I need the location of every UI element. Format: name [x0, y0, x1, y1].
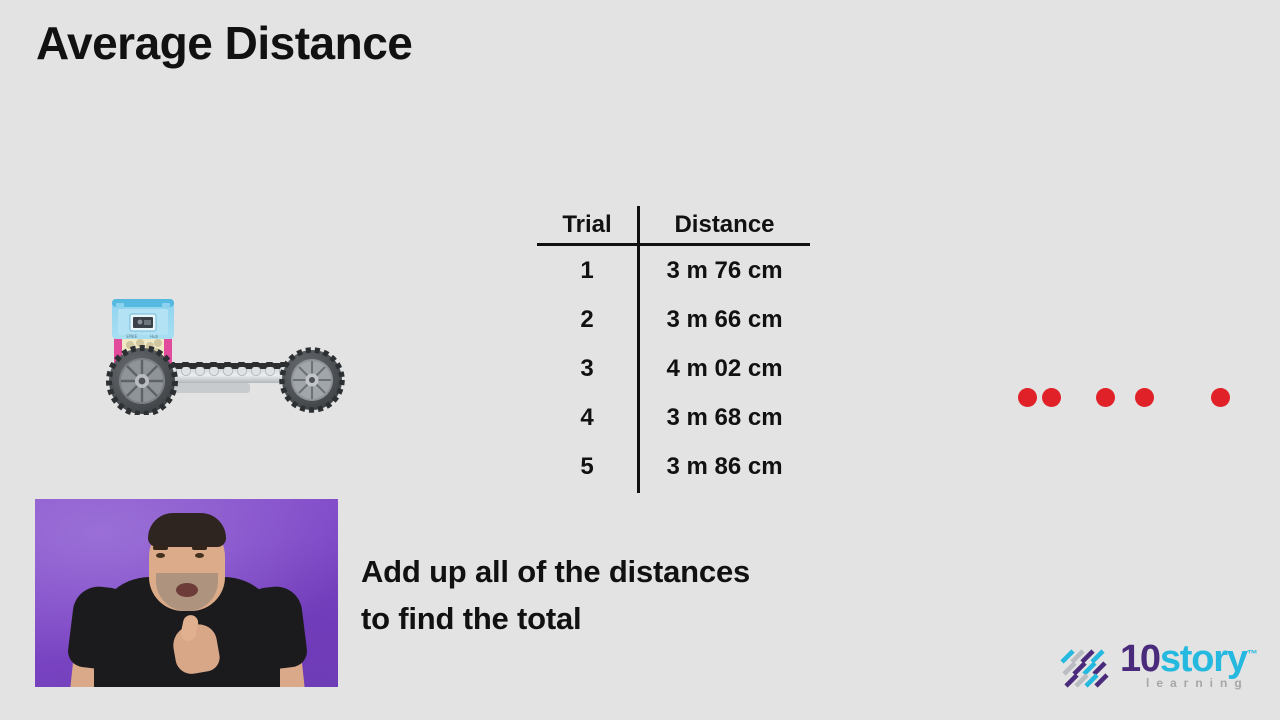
instructor-video-thumbnail[interactable]: [35, 499, 338, 687]
table-row: 4 3 m 68 cm: [537, 393, 812, 442]
cell-trial: 4: [537, 404, 637, 432]
table-row: 3 4 m 02 cm: [537, 344, 812, 393]
svg-text:Hub: Hub: [150, 334, 159, 339]
eye-left: [156, 553, 165, 558]
caption-line-2: to find the total: [361, 595, 881, 642]
instructor-figure: [35, 499, 338, 687]
logo-trademark-icon: ™: [1247, 648, 1258, 660]
table-row: 5 3 m 86 cm: [537, 442, 812, 491]
logo-tagline: learning: [1146, 676, 1249, 690]
red-dot: [1135, 388, 1154, 407]
slide-canvas: Average Distance: [0, 0, 1280, 720]
eye-right: [195, 553, 204, 558]
cell-trial: 3: [537, 355, 637, 383]
table-row: 2 3 m 66 cm: [537, 295, 812, 344]
robot-illustration: SPIKE Hub: [100, 285, 360, 415]
hair: [148, 513, 226, 547]
table-column-divider: [637, 206, 640, 493]
red-dot: [1042, 388, 1061, 407]
caption-text: Add up all of the distances to find the …: [361, 548, 881, 642]
cell-distance: 3 m 66 cm: [637, 306, 812, 334]
column-header-trial: Trial: [537, 211, 637, 241]
table-body: 1 3 m 76 cm 2 3 m 66 cm 3 4 m 02 cm 4 3 …: [537, 246, 812, 491]
eyebrow-right: [192, 546, 207, 550]
column-header-distance: Distance: [637, 211, 812, 241]
distance-data-table: Trial Distance 1 3 m 76 cm 2 3 m 66 cm 3…: [537, 205, 812, 491]
cell-distance: 4 m 02 cm: [637, 355, 812, 383]
brand-logo: 10story™ learning: [1060, 646, 1265, 696]
cell-trial: 1: [537, 257, 637, 285]
logo-text-story: story: [1160, 638, 1247, 680]
table-row: 1 3 m 76 cm: [537, 246, 812, 295]
cell-distance: 3 m 76 cm: [637, 257, 812, 285]
logo-text-10: 10: [1120, 638, 1160, 680]
cell-trial: 5: [537, 453, 637, 481]
red-dot: [1096, 388, 1115, 407]
svg-text:SPIKE: SPIKE: [126, 334, 138, 339]
red-dot: [1211, 388, 1230, 407]
eyebrow-left: [153, 546, 168, 550]
logo-wordmark: 10story™: [1120, 640, 1258, 678]
sleeve-left: [66, 584, 136, 673]
caption-line-1: Add up all of the distances: [361, 548, 881, 595]
page-title: Average Distance: [36, 18, 412, 69]
mouth: [176, 583, 198, 597]
red-dot-group: [1018, 386, 1238, 410]
sleeve-right: [239, 584, 309, 673]
red-dot: [1018, 388, 1037, 407]
logo-stripes-icon: [1060, 648, 1116, 692]
table-header-row: Trial Distance: [537, 205, 812, 241]
cell-distance: 3 m 86 cm: [637, 453, 812, 481]
cell-trial: 2: [537, 306, 637, 334]
cell-distance: 3 m 68 cm: [637, 404, 812, 432]
